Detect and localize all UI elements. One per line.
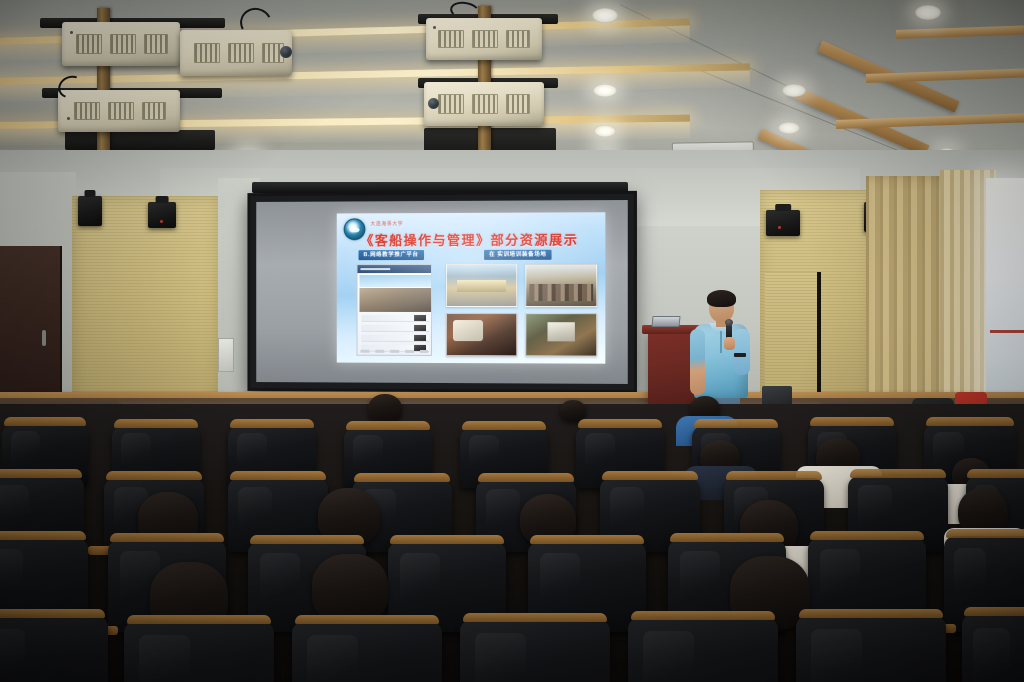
audience-head bbox=[312, 554, 388, 624]
slide-title: 《客船操作与管理》部分资源展示 bbox=[360, 229, 601, 249]
screen-surface: 大连海事大学 《客船操作与管理》部分资源展示 B.网络教学推广平台 在 实训培训… bbox=[256, 200, 628, 384]
speaker-left-2 bbox=[148, 202, 176, 228]
photo-lifeboat-davit bbox=[446, 264, 517, 307]
ceiling-downlight bbox=[915, 5, 941, 20]
projector-vent bbox=[228, 43, 254, 63]
website-row-thumb bbox=[414, 325, 426, 331]
website-list-row bbox=[361, 335, 429, 342]
projector-rig-left bbox=[40, 0, 280, 160]
speaker-left-1 bbox=[78, 196, 102, 226]
seat[interactable] bbox=[962, 614, 1024, 682]
projector-lens bbox=[280, 46, 292, 58]
website-footer-links bbox=[360, 350, 428, 353]
slide-subtitle: 大连海事大学 bbox=[370, 220, 403, 227]
photo-outdoor-drill bbox=[525, 313, 597, 356]
projector-rig-center bbox=[410, 0, 580, 170]
ceiling-downlight bbox=[594, 125, 616, 137]
projector-vent bbox=[506, 94, 530, 113]
website-banner bbox=[359, 275, 431, 287]
projector-vent bbox=[142, 102, 166, 120]
window-rail bbox=[990, 330, 1024, 333]
projector-rear-upper bbox=[62, 22, 180, 66]
seat[interactable] bbox=[460, 620, 610, 682]
projector-vent bbox=[194, 43, 220, 63]
seat[interactable] bbox=[796, 616, 946, 682]
ceiling-downlight bbox=[593, 84, 617, 97]
wall-vent bbox=[218, 338, 234, 372]
ceiling-downlight bbox=[782, 84, 806, 97]
photo-hands-on-practice bbox=[446, 313, 517, 356]
projector-right bbox=[180, 30, 292, 76]
audience-head bbox=[368, 394, 402, 424]
website-hero-photo bbox=[359, 288, 431, 312]
projector-led bbox=[67, 117, 70, 120]
projector-vent bbox=[438, 30, 464, 48]
website-row-thumb bbox=[414, 315, 426, 321]
speaker-right-1 bbox=[766, 210, 800, 236]
ceiling-downlight bbox=[592, 8, 618, 23]
website-list-row bbox=[361, 325, 429, 332]
projector-led bbox=[70, 31, 73, 34]
projector-vent bbox=[74, 102, 100, 120]
projector-vent bbox=[110, 34, 136, 53]
website-header-bar bbox=[358, 265, 432, 273]
website-row-thumb bbox=[414, 335, 426, 341]
projector-led bbox=[433, 26, 436, 29]
projector-front-upper bbox=[426, 18, 542, 60]
presenter-right-arm bbox=[734, 329, 750, 375]
projector-vent bbox=[76, 34, 102, 53]
projector-vent bbox=[144, 34, 168, 53]
projector-vent bbox=[438, 94, 464, 113]
presenter-placket bbox=[720, 331, 722, 353]
presenter-wristwatch bbox=[734, 353, 746, 357]
training-photo-grid bbox=[446, 264, 597, 357]
projected-slide: 大连海事大学 《客船操作与管理》部分资源展示 B.网络教学推广平台 在 实训培训… bbox=[337, 212, 606, 363]
seat[interactable] bbox=[124, 622, 274, 682]
website-list-row bbox=[361, 315, 429, 322]
slide-section-right: 在 实训培训装备场地 bbox=[484, 250, 552, 260]
speaker-led bbox=[778, 226, 781, 229]
audience-area bbox=[0, 404, 1024, 682]
projector-vent bbox=[472, 30, 498, 48]
photo-classroom-simulator bbox=[525, 264, 597, 307]
seat[interactable] bbox=[292, 622, 442, 682]
presenter-hair bbox=[707, 290, 736, 307]
speaker-led bbox=[160, 220, 163, 223]
ceiling-downlight bbox=[778, 122, 800, 134]
seat[interactable] bbox=[0, 616, 108, 682]
projector-vent bbox=[472, 94, 498, 113]
projector-vent bbox=[506, 30, 530, 48]
rig-plate bbox=[65, 130, 215, 150]
lecture-hall-photo: 大连海事大学 《客船操作与管理》部分资源展示 B.网络教学推广平台 在 实训培训… bbox=[0, 0, 1024, 682]
presenter-laptop bbox=[651, 316, 680, 327]
acoustic-panel-left bbox=[72, 196, 218, 418]
projector-front-lower bbox=[424, 82, 544, 126]
slide-section-left: B.网络教学推广平台 bbox=[359, 250, 424, 260]
presenter-hand bbox=[724, 337, 735, 350]
projector-vent bbox=[108, 102, 134, 120]
projector-lens bbox=[428, 98, 439, 109]
seat[interactable] bbox=[628, 618, 778, 682]
projection-screen: 大连海事大学 《客船操作与管理》部分资源展示 B.网络教学推广平台 在 实训培训… bbox=[247, 191, 637, 393]
door-handle[interactable] bbox=[42, 330, 46, 346]
course-website-screenshot bbox=[357, 264, 432, 356]
presenter-left-arm bbox=[690, 329, 705, 395]
